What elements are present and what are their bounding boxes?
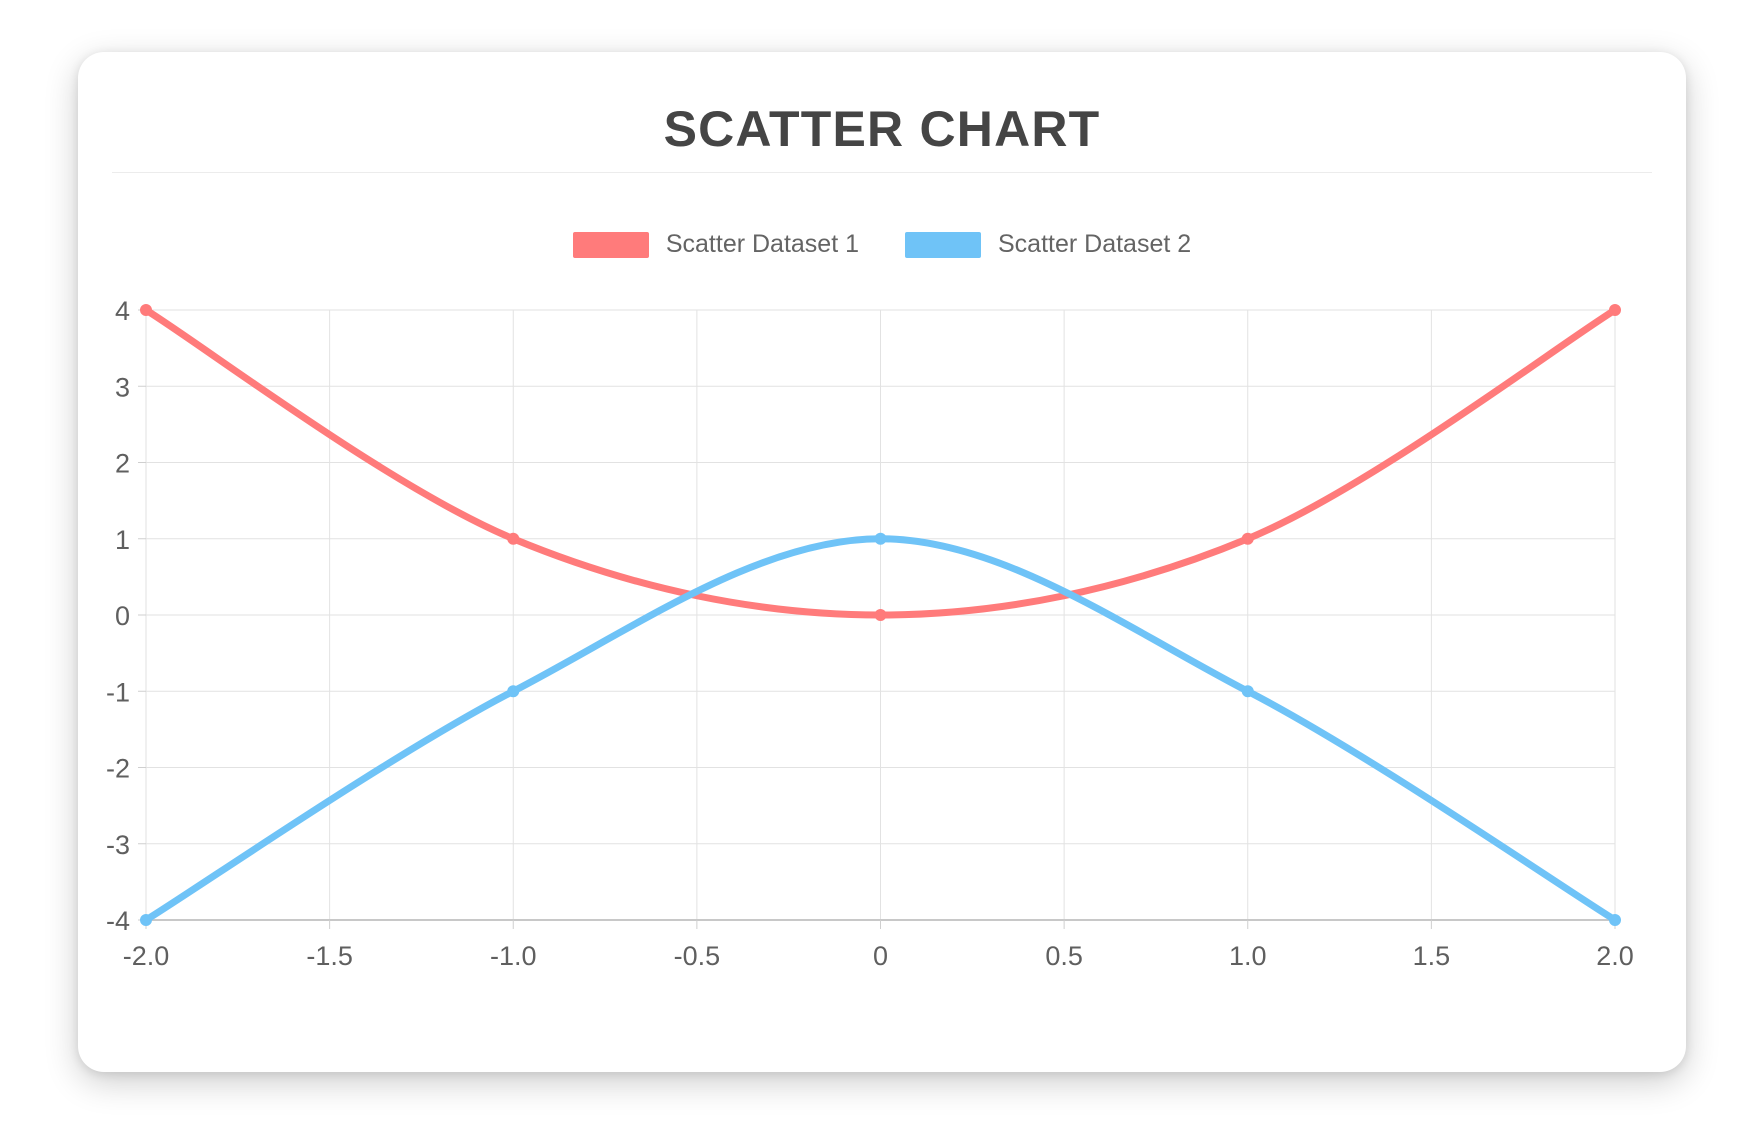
- y-tick-label: -2: [106, 754, 130, 784]
- data-point[interactable]: [876, 534, 886, 544]
- data-point[interactable]: [508, 534, 518, 544]
- chart-card: SCATTER CHART Scatter Dataset 1Scatter D…: [78, 52, 1686, 1072]
- x-tick-label: 2.0: [1596, 941, 1634, 971]
- x-tick-label: -2.0: [123, 941, 170, 971]
- data-point[interactable]: [1243, 534, 1253, 544]
- y-tick-label: -1: [106, 677, 130, 707]
- data-point[interactable]: [1243, 686, 1253, 696]
- y-tick-label: 1: [115, 525, 130, 555]
- y-tick-label: 4: [115, 296, 130, 326]
- y-tick-label: -3: [106, 830, 130, 860]
- data-point[interactable]: [1610, 305, 1620, 315]
- data-point[interactable]: [876, 610, 886, 620]
- x-tick-label: -1.0: [490, 941, 537, 971]
- x-tick-label: 0: [873, 941, 888, 971]
- scatter-plot-svg: 43210-1-2-3-4-2.0-1.5-1.0-0.500.51.01.52…: [78, 252, 1686, 1052]
- plot-area: 43210-1-2-3-4-2.0-1.5-1.0-0.500.51.01.52…: [78, 252, 1686, 1052]
- y-tick-label: 2: [115, 449, 130, 479]
- screen-root: SCATTER CHART Scatter Dataset 1Scatter D…: [0, 0, 1763, 1144]
- y-tick-label: -4: [106, 906, 130, 936]
- y-tick-label: 3: [115, 372, 130, 402]
- x-tick-label: 0.5: [1045, 941, 1083, 971]
- x-tick-label: -0.5: [674, 941, 721, 971]
- title-divider: [112, 172, 1652, 173]
- data-point[interactable]: [508, 686, 518, 696]
- data-point[interactable]: [141, 915, 151, 925]
- data-point[interactable]: [141, 305, 151, 315]
- x-tick-label: 1.5: [1413, 941, 1451, 971]
- y-tick-label: 0: [115, 601, 130, 631]
- page-title: SCATTER CHART: [78, 100, 1686, 158]
- x-tick-label: -1.5: [306, 941, 353, 971]
- data-point[interactable]: [1610, 915, 1620, 925]
- x-tick-label: 1.0: [1229, 941, 1267, 971]
